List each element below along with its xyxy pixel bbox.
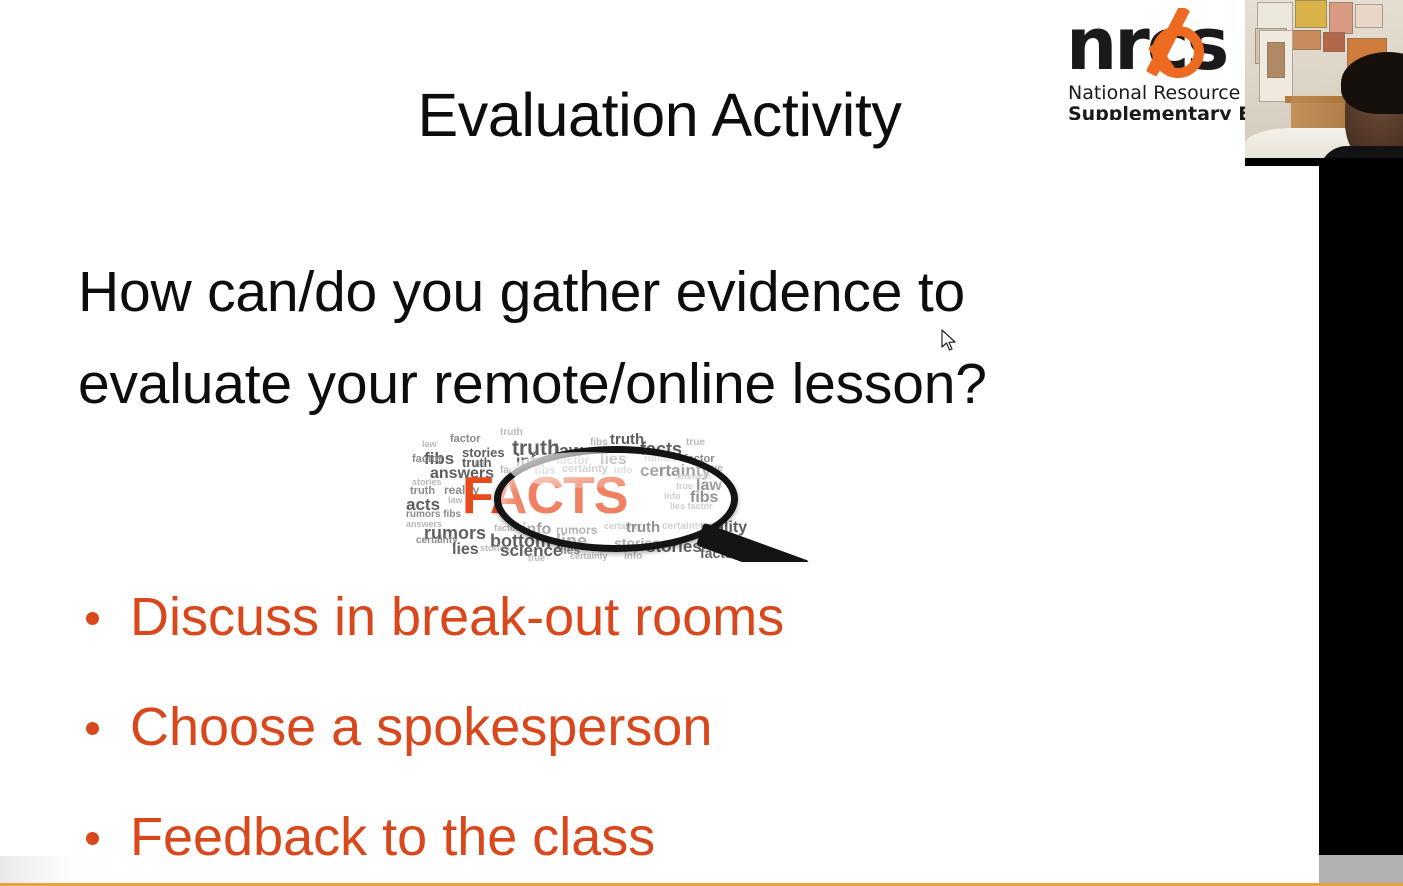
slide-bottom-strip: [0, 856, 1319, 886]
facts-magnifying-glass-image: law factor truth stories fibs lies truth…: [404, 424, 812, 562]
presenter-webcam-tile[interactable]: [1245, 0, 1403, 166]
question-line-1: How can/do you gather evidence to: [78, 246, 1258, 338]
presentation-screen: Evaluation Activity How can/do you gathe…: [0, 0, 1403, 886]
wall-photo: [1355, 4, 1383, 28]
wall-photo: [1289, 30, 1321, 50]
right-black-panel: [1319, 166, 1403, 855]
webcam-bottom-edge: [1245, 158, 1403, 166]
wall-photo: [1295, 0, 1327, 28]
slide-canvas: Evaluation Activity How can/do you gathe…: [0, 0, 1319, 886]
wall-photo: [1323, 32, 1345, 52]
question-line-2: evaluate your remote/online lesson?: [78, 338, 1258, 430]
list-item: Discuss in break-out rooms: [78, 562, 1228, 672]
question-block: How can/do you gather evidence to evalua…: [78, 246, 1258, 431]
bullet-list: Discuss in break-out rooms Choose a spok…: [78, 562, 1228, 886]
wall-photo: [1329, 2, 1353, 34]
bottom-right-gray-bar: [1319, 855, 1403, 883]
list-item: Choose a spokesperson: [78, 672, 1228, 782]
wall-photo: [1267, 42, 1285, 78]
